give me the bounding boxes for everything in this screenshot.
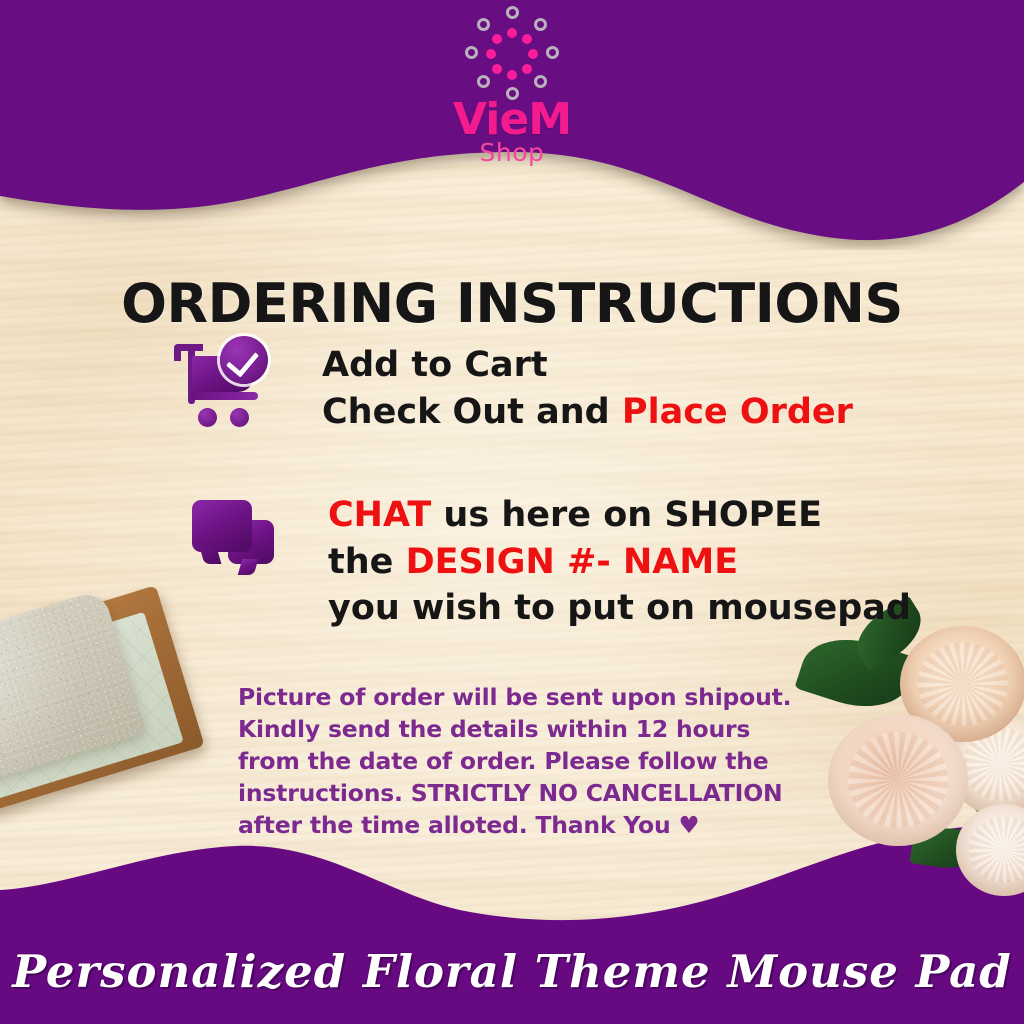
text-segment-highlight: DESIGN #- NAME <box>406 542 739 582</box>
text-segment: Check Out and <box>322 392 622 432</box>
brand-name: VieM <box>0 98 1024 141</box>
shopping-cart-check-icon <box>172 338 270 430</box>
chat-bubbles-icon <box>190 498 276 576</box>
page-title: ORDERING INSTRUCTIONS <box>0 272 1024 335</box>
brand-logo: VieM Shop <box>0 6 1024 165</box>
disclaimer-line: Kindly send the details within 12 hours <box>238 714 838 746</box>
instruction-step-2-text: CHAT us here on SHOPEE the DESIGN #- NAM… <box>328 492 911 632</box>
rose-bloom <box>828 714 968 846</box>
text-segment-highlight: CHAT <box>328 495 431 535</box>
instruction-step-1-text: Add to Cart Check Out and Place Order <box>322 342 853 435</box>
product-poster: VieM Shop ORDERING INSTRUCTIONS Add to C… <box>0 0 1024 1024</box>
text-segment: us here on SHOPEE <box>431 495 822 535</box>
disclaimer-line: instructions. STRICTLY NO CANCELLATION <box>238 778 838 810</box>
check-icon <box>220 336 268 384</box>
disclaimer-line: Picture of order will be sent upon shipo… <box>238 682 838 714</box>
instruction-line: Add to Cart <box>322 342 853 389</box>
text-segment: Add to Cart <box>322 345 548 385</box>
peach-roses-photo <box>808 616 1024 874</box>
disclaimer-line: from the date of order. Please follow th… <box>238 746 838 778</box>
instruction-line: Check Out and Place Order <box>322 389 853 436</box>
text-segment: the <box>328 542 406 582</box>
brand-tagline: Shop <box>0 140 1024 165</box>
instruction-line: the DESIGN #- NAME <box>328 539 911 586</box>
instruction-line: you wish to put on mousepad <box>328 585 911 632</box>
instruction-line: CHAT us here on SHOPEE <box>328 492 911 539</box>
disclaimer-note: Picture of order will be sent upon shipo… <box>238 682 838 842</box>
instruction-step-chat: CHAT us here on SHOPEE the DESIGN #- NAM… <box>190 498 911 632</box>
flower-dots-logo-icon <box>456 6 568 102</box>
product-title: Personalized Floral Theme Mouse Pad <box>0 945 1024 998</box>
disclaimer-line: after the time alloted. Thank You ♥ <box>238 810 838 842</box>
instruction-step-add-to-cart: Add to Cart Check Out and Place Order <box>172 338 853 435</box>
text-segment-highlight: Place Order <box>622 392 853 432</box>
text-segment: you wish to put on mousepad <box>328 588 911 628</box>
